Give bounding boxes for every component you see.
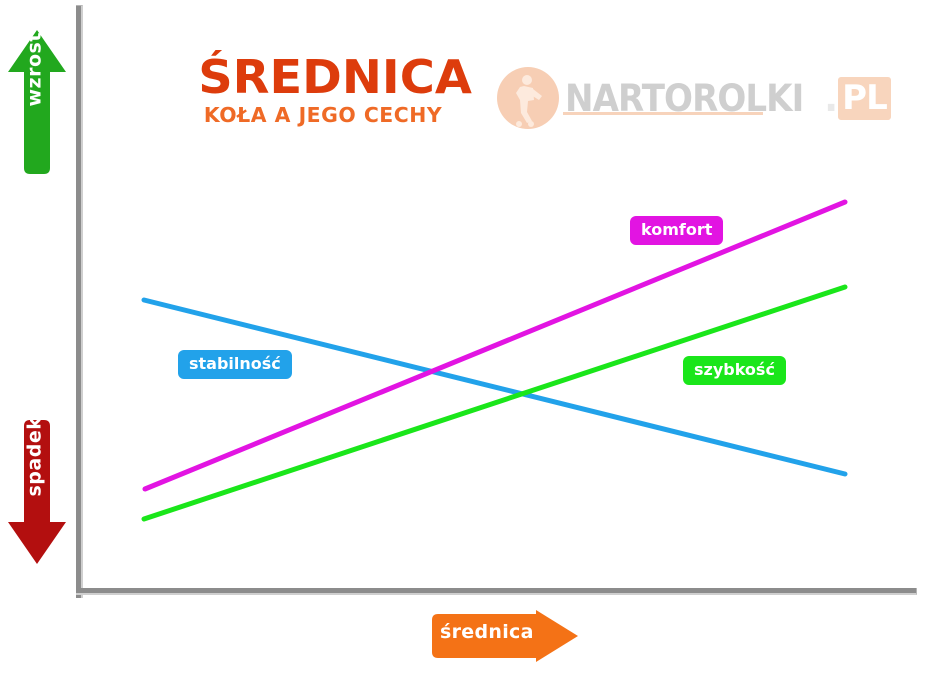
brand-underline: [563, 112, 763, 115]
series-label-komfort: komfort: [630, 216, 723, 245]
brand-tld: PL: [838, 77, 891, 120]
x-axis-label: średnica: [440, 623, 534, 642]
chart-canvas: ŚREDNICA KOŁA A JEGO CECHY NARTOROLKI . …: [0, 0, 925, 680]
series-line-szybkosc: [144, 287, 845, 519]
brand-watermark: NARTOROLKI . PL: [497, 64, 789, 132]
series-label-szybkosc: szybkość: [683, 356, 786, 385]
brand-dot: .: [824, 77, 838, 120]
y-axis-label-down: spadek: [26, 427, 45, 497]
y-axis-label-up: wzrost: [26, 37, 45, 107]
skater-icon: [497, 67, 559, 129]
series-label-stabilnosc: stabilność: [178, 350, 292, 379]
chart-title-block: ŚREDNICA KOŁA A JEGO CECHY: [203, 54, 443, 125]
chart-title-main: ŚREDNICA: [198, 54, 448, 100]
chart-title-sub: KOŁA A JEGO CECHY: [201, 105, 446, 125]
